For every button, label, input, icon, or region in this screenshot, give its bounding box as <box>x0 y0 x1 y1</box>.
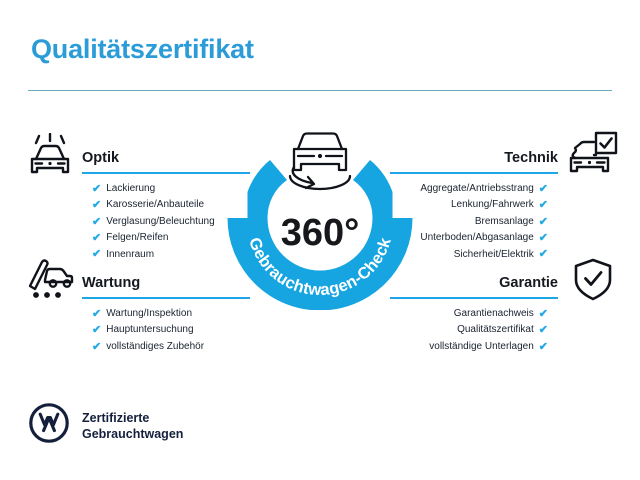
checklist-wartung: ✔Wartung/Inspektion ✔Hauptuntersuchung ✔… <box>92 306 250 355</box>
list-item-label: Hauptuntersuchung <box>106 322 193 338</box>
footer-brand-text: Zertifizierte Gebrauchtwagen <box>82 410 183 442</box>
check-icon: ✔ <box>92 233 101 244</box>
check-icon: ✔ <box>539 184 548 195</box>
footer-brand: Zertifizierte Gebrauchtwagen <box>29 403 183 448</box>
list-item-label: Garantienachweis <box>454 306 534 322</box>
badge-360-gebrauchtwagen-check: Gebrauchtwagen-Check 360° <box>224 114 416 310</box>
list-item-label: Bremsanlage <box>475 214 534 230</box>
certificate-page: Qualitätszertifikat <box>0 0 640 480</box>
footer-line-2: Gebrauchtwagen <box>82 427 183 441</box>
list-item-label: Aggregate/Antriebsstrang <box>420 181 533 197</box>
check-icon: ✔ <box>539 200 548 211</box>
checklist-garantie: ✔Garantienachweis ✔Qualitätszertifikat ✔… <box>390 306 548 355</box>
list-item-label: Felgen/Reifen <box>106 230 168 246</box>
car-rotate-icon <box>290 134 350 190</box>
vw-logo-icon <box>29 403 69 448</box>
shield-check-icon <box>572 258 614 307</box>
section-title-wartung: Wartung <box>82 275 140 291</box>
list-item-label: Qualitätszertifikat <box>457 322 534 338</box>
list-item-label: Sicherheit/Elektrik <box>454 247 534 263</box>
check-icon: ✔ <box>92 249 101 260</box>
check-icon: ✔ <box>92 200 101 211</box>
page-title: Qualitätszertifikat <box>31 34 254 65</box>
car-checkbox-icon <box>566 131 618 184</box>
title-divider <box>28 90 612 91</box>
check-icon: ✔ <box>539 217 548 228</box>
list-item: ✔Hauptuntersuchung <box>92 322 250 338</box>
check-icon: ✔ <box>92 325 101 336</box>
check-icon: ✔ <box>92 342 101 353</box>
check-icon: ✔ <box>539 249 548 260</box>
check-icon: ✔ <box>539 342 548 353</box>
list-item-label: Innenraum <box>106 247 154 263</box>
list-item-label: Wartung/Inspektion <box>106 306 192 322</box>
check-icon: ✔ <box>92 309 101 320</box>
check-icon: ✔ <box>92 217 101 228</box>
list-item-label: Verglasung/Beleuchtung <box>106 214 214 230</box>
list-item-label: Unterboden/Abgasanlage <box>420 230 533 246</box>
section-title-technik: Technik <box>504 150 558 166</box>
list-item-label: vollständige Unterlagen <box>429 339 534 355</box>
wrench-car-icon <box>25 258 75 305</box>
list-item-label: Lackierung <box>106 181 155 197</box>
badge-degrees: 360° <box>281 212 360 254</box>
list-item-label: Lenkung/Fahrwerk <box>451 197 534 213</box>
list-item-label: vollständiges Zubehör <box>106 339 204 355</box>
check-icon: ✔ <box>539 325 548 336</box>
check-icon: ✔ <box>92 184 101 195</box>
list-item: ✔vollständige Unterlagen <box>390 339 548 355</box>
footer-line-1: Zertifizierte <box>82 411 149 425</box>
list-item: ✔vollständiges Zubehör <box>92 339 250 355</box>
check-icon: ✔ <box>539 233 548 244</box>
section-title-garantie: Garantie <box>499 275 558 291</box>
list-item: ✔Qualitätszertifikat <box>390 322 548 338</box>
check-icon: ✔ <box>539 309 548 320</box>
ring-horn-right <box>353 160 393 218</box>
section-title-optik: Optik <box>82 150 119 166</box>
ring-horn-left <box>248 160 288 218</box>
car-shine-icon <box>25 133 75 184</box>
list-item-label: Karosserie/Anbauteile <box>106 197 204 213</box>
